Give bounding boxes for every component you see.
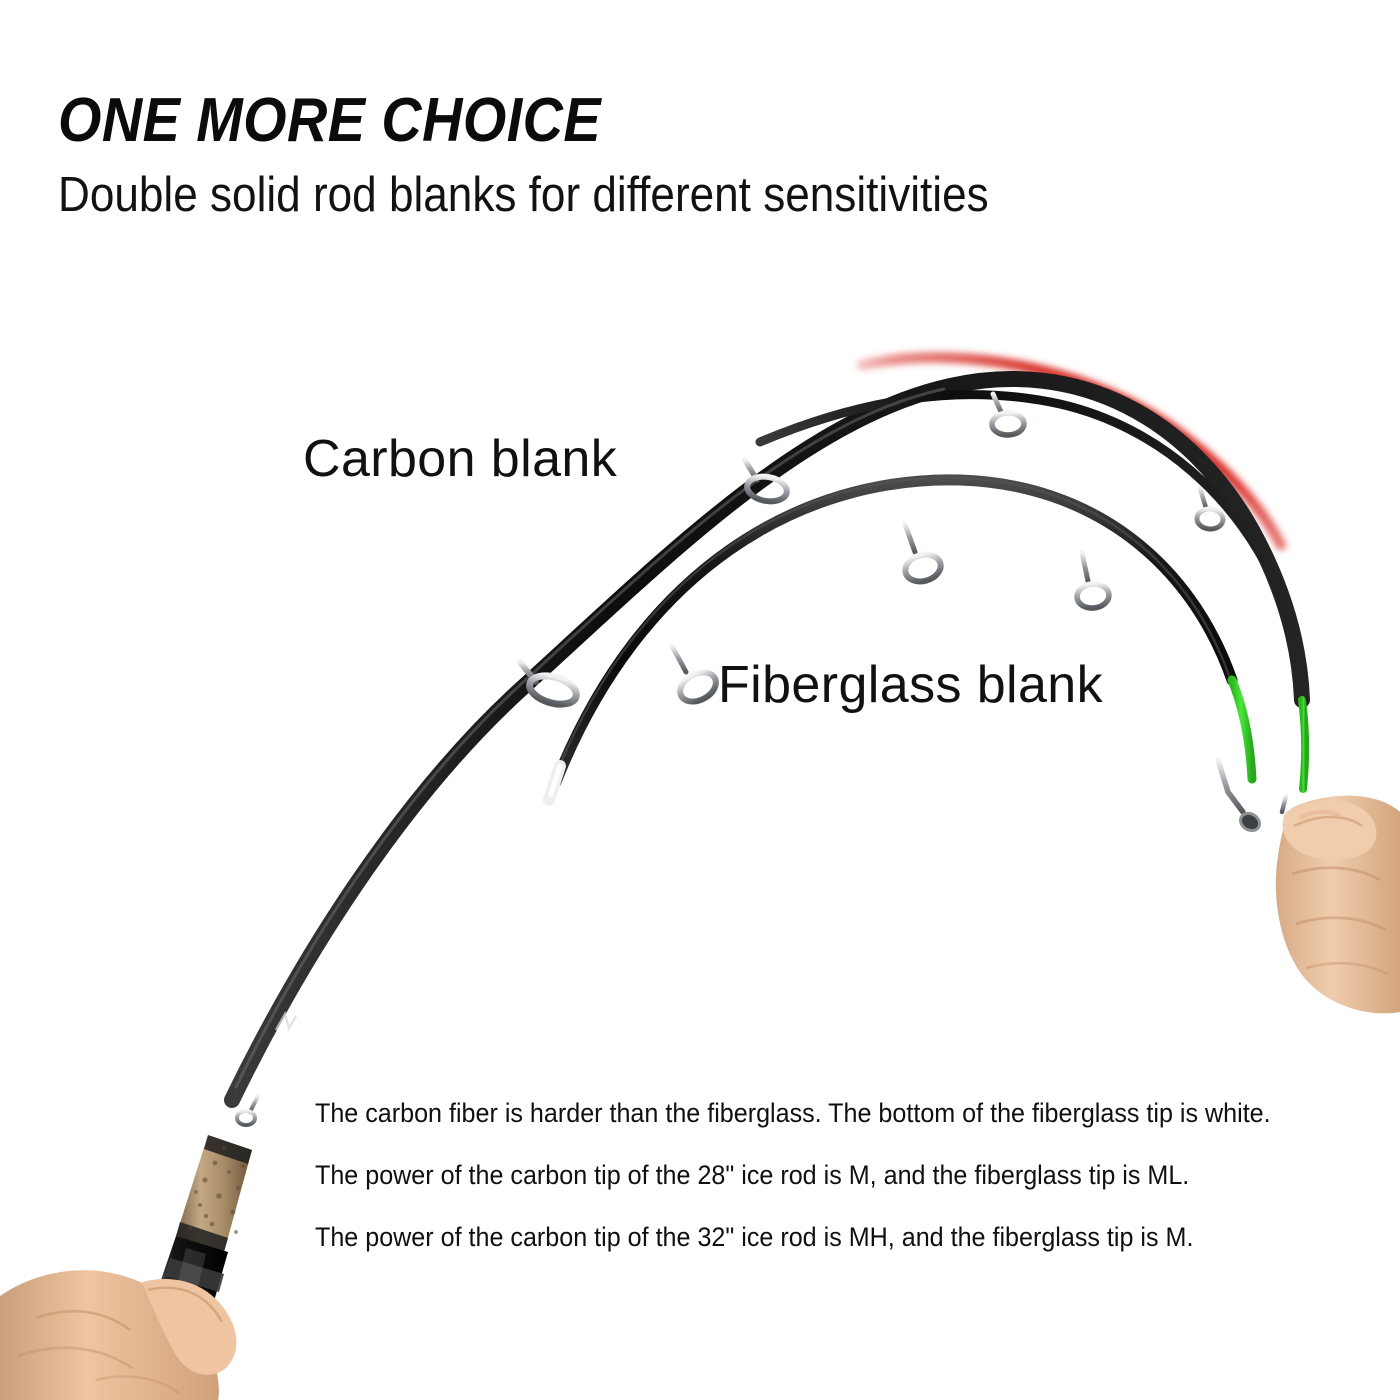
header-block: ONE MORE CHOICE Double solid rod blanks … [58,88,1092,222]
rod-handle [120,1135,252,1400]
line-guide-ring-icon [745,460,789,504]
line-guide-ring-icon [1076,553,1110,610]
label-carbon-blank: Carbon blank [303,429,617,489]
green-tip-icon [1302,700,1305,789]
cork-grip-icon [176,1135,252,1252]
label-fiberglass-blank: Fiberglass blank [718,655,1103,715]
brand-logo-icon [276,1014,296,1030]
green-tip-icon [1232,680,1252,779]
hand-pinching-tip-icon [1276,796,1400,1014]
line-guide-ring-icon [237,1096,258,1125]
hand-gripping-handle-icon [0,1270,236,1400]
line-guide-ring-icon [902,524,944,585]
note-line: The power of the carbon tip of the 32" i… [315,1222,1282,1252]
line-guide-ring-icon [1196,488,1223,530]
white-ferrule-icon [549,766,560,800]
product-marketing-image: ONE MORE CHOICE Double solid rod blanks … [0,0,1400,1400]
notes-block: The carbon fiber is harder than the fibe… [315,1098,1355,1252]
line-guide-ring-icon [992,394,1025,436]
note-line: The power of the carbon tip of the 28" i… [315,1160,1282,1190]
line-guide-tip-icon [1282,796,1286,812]
note-line: The carbon fiber is harder than the fibe… [315,1098,1282,1128]
line-guide-ring-icon [672,646,721,707]
motion-arc-icon [862,358,1281,545]
line-guide-tip-icon [1218,760,1263,834]
reel-seat-icon [120,1236,228,1400]
page-title: ONE MORE CHOICE [58,88,989,154]
line-guide-ring-icon [520,662,580,709]
fishing-rod-carbon-icon [232,379,1305,1125]
page-subtitle: Double solid rod blanks for different se… [58,168,989,222]
